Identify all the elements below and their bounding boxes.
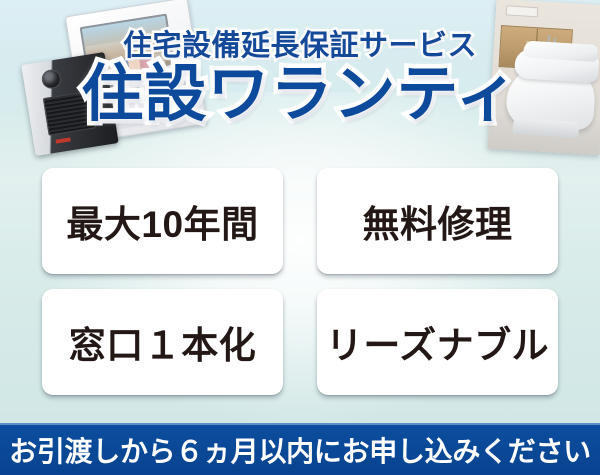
feature-box-reasonable: リーズナブル xyxy=(317,289,558,395)
banner-subtitle: 住宅設備延長保証サービス xyxy=(0,22,600,64)
intercom-call-led xyxy=(55,137,70,143)
feature-box-grid: 最大10年間 無料修理 窓口１本化 リーズナブル xyxy=(42,168,558,395)
feature-label: リーズナブル xyxy=(326,315,549,369)
feature-box-max-years: 最大10年間 xyxy=(42,168,283,274)
feature-label: 無料修理 xyxy=(363,194,513,248)
bottom-cta-text: お引渡しから６ヵ月以内にお申し込みください xyxy=(9,430,591,470)
bathroom-vent xyxy=(506,5,539,17)
feature-label: 最大10年間 xyxy=(66,194,258,248)
feature-label: 窓口１本化 xyxy=(69,315,257,369)
feature-box-free-repair: 無料修理 xyxy=(317,168,558,274)
bottom-cta-bar: お引渡しから６ヵ月以内にお申し込みください xyxy=(0,423,600,475)
feature-box-single-contact: 窓口１本化 xyxy=(42,289,283,395)
promotional-banner: 住宅設備延長保証サービス 住設ワランティ 最大10年間 無料修理 窓口１本化 リ… xyxy=(0,0,600,475)
banner-title: 住設ワランティ xyxy=(0,62,600,127)
